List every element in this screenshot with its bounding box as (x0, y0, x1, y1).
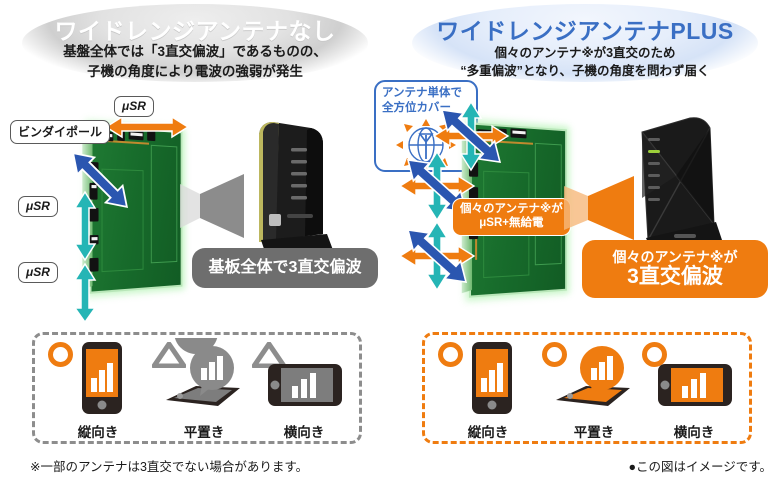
phone-flat-icon (152, 338, 256, 416)
right-footnote: ●この図はイメージです。 (628, 456, 772, 475)
phone-flat-icon (542, 338, 646, 416)
left-subtitle-line2: 子機の角度により電波の強弱が発生 (0, 62, 390, 82)
right-device-landscape-label: 横向き (642, 421, 746, 441)
left-device-portrait-label: 縦向き (46, 421, 150, 441)
right-callout-line1: 個々のアンテナ※が (612, 249, 737, 266)
left-panel-title: ワイドレンジアンテナなし (0, 12, 390, 46)
left-device-flat-label: 平置き (152, 421, 256, 441)
left-callout-text: 基板全体で3直交偏波 (209, 258, 362, 277)
dipole-diagonal-arrow (58, 138, 142, 222)
board-trace (151, 145, 177, 264)
usr-vertical-arrow-mid (74, 190, 96, 262)
right-subtitle-line2: “多重偏波”となり、子機の角度を問わず届く (390, 62, 780, 80)
left-footnote: ※一部のアンテナは3直交でない場合があります。 (30, 456, 308, 475)
right-callout-line2: 3直交偏波 (627, 265, 723, 289)
phone-portrait-icon (46, 338, 150, 416)
left-summary-callout: 基板全体で3直交偏波 (192, 248, 378, 288)
left-device-portrait: 縦向き (46, 338, 150, 442)
panel-without-wide-range-antenna: ワイドレンジアンテナなし 基盤全体では「3直交偏波」であるものの、 子機の角度に… (0, 0, 390, 480)
label-usr-bottom: μSR (18, 262, 58, 283)
left-subtitle-line1: 基盤全体では「3直交偏波」であるものの、 (0, 42, 390, 62)
label-usr-mid: μSR (18, 196, 58, 217)
antenna-bubble-line2: μSR+無給電 (460, 216, 563, 230)
usr-vertical-arrow-bottom (74, 262, 96, 324)
antenna-bubble-line1: 個々のアンテナ※が (460, 202, 563, 216)
right-device-portrait-label: 縦向き (436, 421, 540, 441)
right-device-flat-label: 平置き (542, 421, 646, 441)
label-usr-top: μSR (114, 96, 154, 117)
usr-horizontal-arrow (104, 116, 190, 138)
left-signal-beam (178, 168, 246, 249)
phone-portrait-icon (436, 338, 540, 416)
right-device-flat: 平置き (542, 338, 646, 442)
panel-wide-range-antenna-plus: ワイドレンジアンテナPLUS 個々のアンテナ※が3直交のため “多重偏波”となり… (390, 0, 780, 480)
left-device-landscape: 横向き (252, 338, 356, 442)
right-panel-title: ワイドレンジアンテナPLUS (390, 12, 780, 46)
right-subtitle-line1: 個々のアンテナ※が3直交のため (390, 44, 780, 62)
left-device-landscape-label: 横向き (252, 421, 356, 441)
right-panel-subtitle: 個々のアンテナ※が3直交のため “多重偏波”となり、子機の角度を問わず届く (390, 44, 780, 80)
left-router-device (243, 118, 335, 265)
right-summary-callout: 個々のアンテナ※が 3直交偏波 (582, 240, 768, 298)
phone-landscape-icon (252, 338, 356, 416)
phone-landscape-icon (642, 338, 746, 416)
right-device-portrait: 縦向き (436, 338, 540, 442)
label-dipole: ビンダイポール (10, 120, 110, 144)
left-device-flat: 平置き (152, 338, 256, 442)
right-device-landscape: 横向き (642, 338, 746, 442)
left-panel-subtitle: 基盤全体では「3直交偏波」であるものの、 子機の角度により電波の強弱が発生 (0, 42, 390, 81)
antenna-usr-bubble: 個々のアンテナ※が μSR+無給電 (452, 198, 571, 236)
